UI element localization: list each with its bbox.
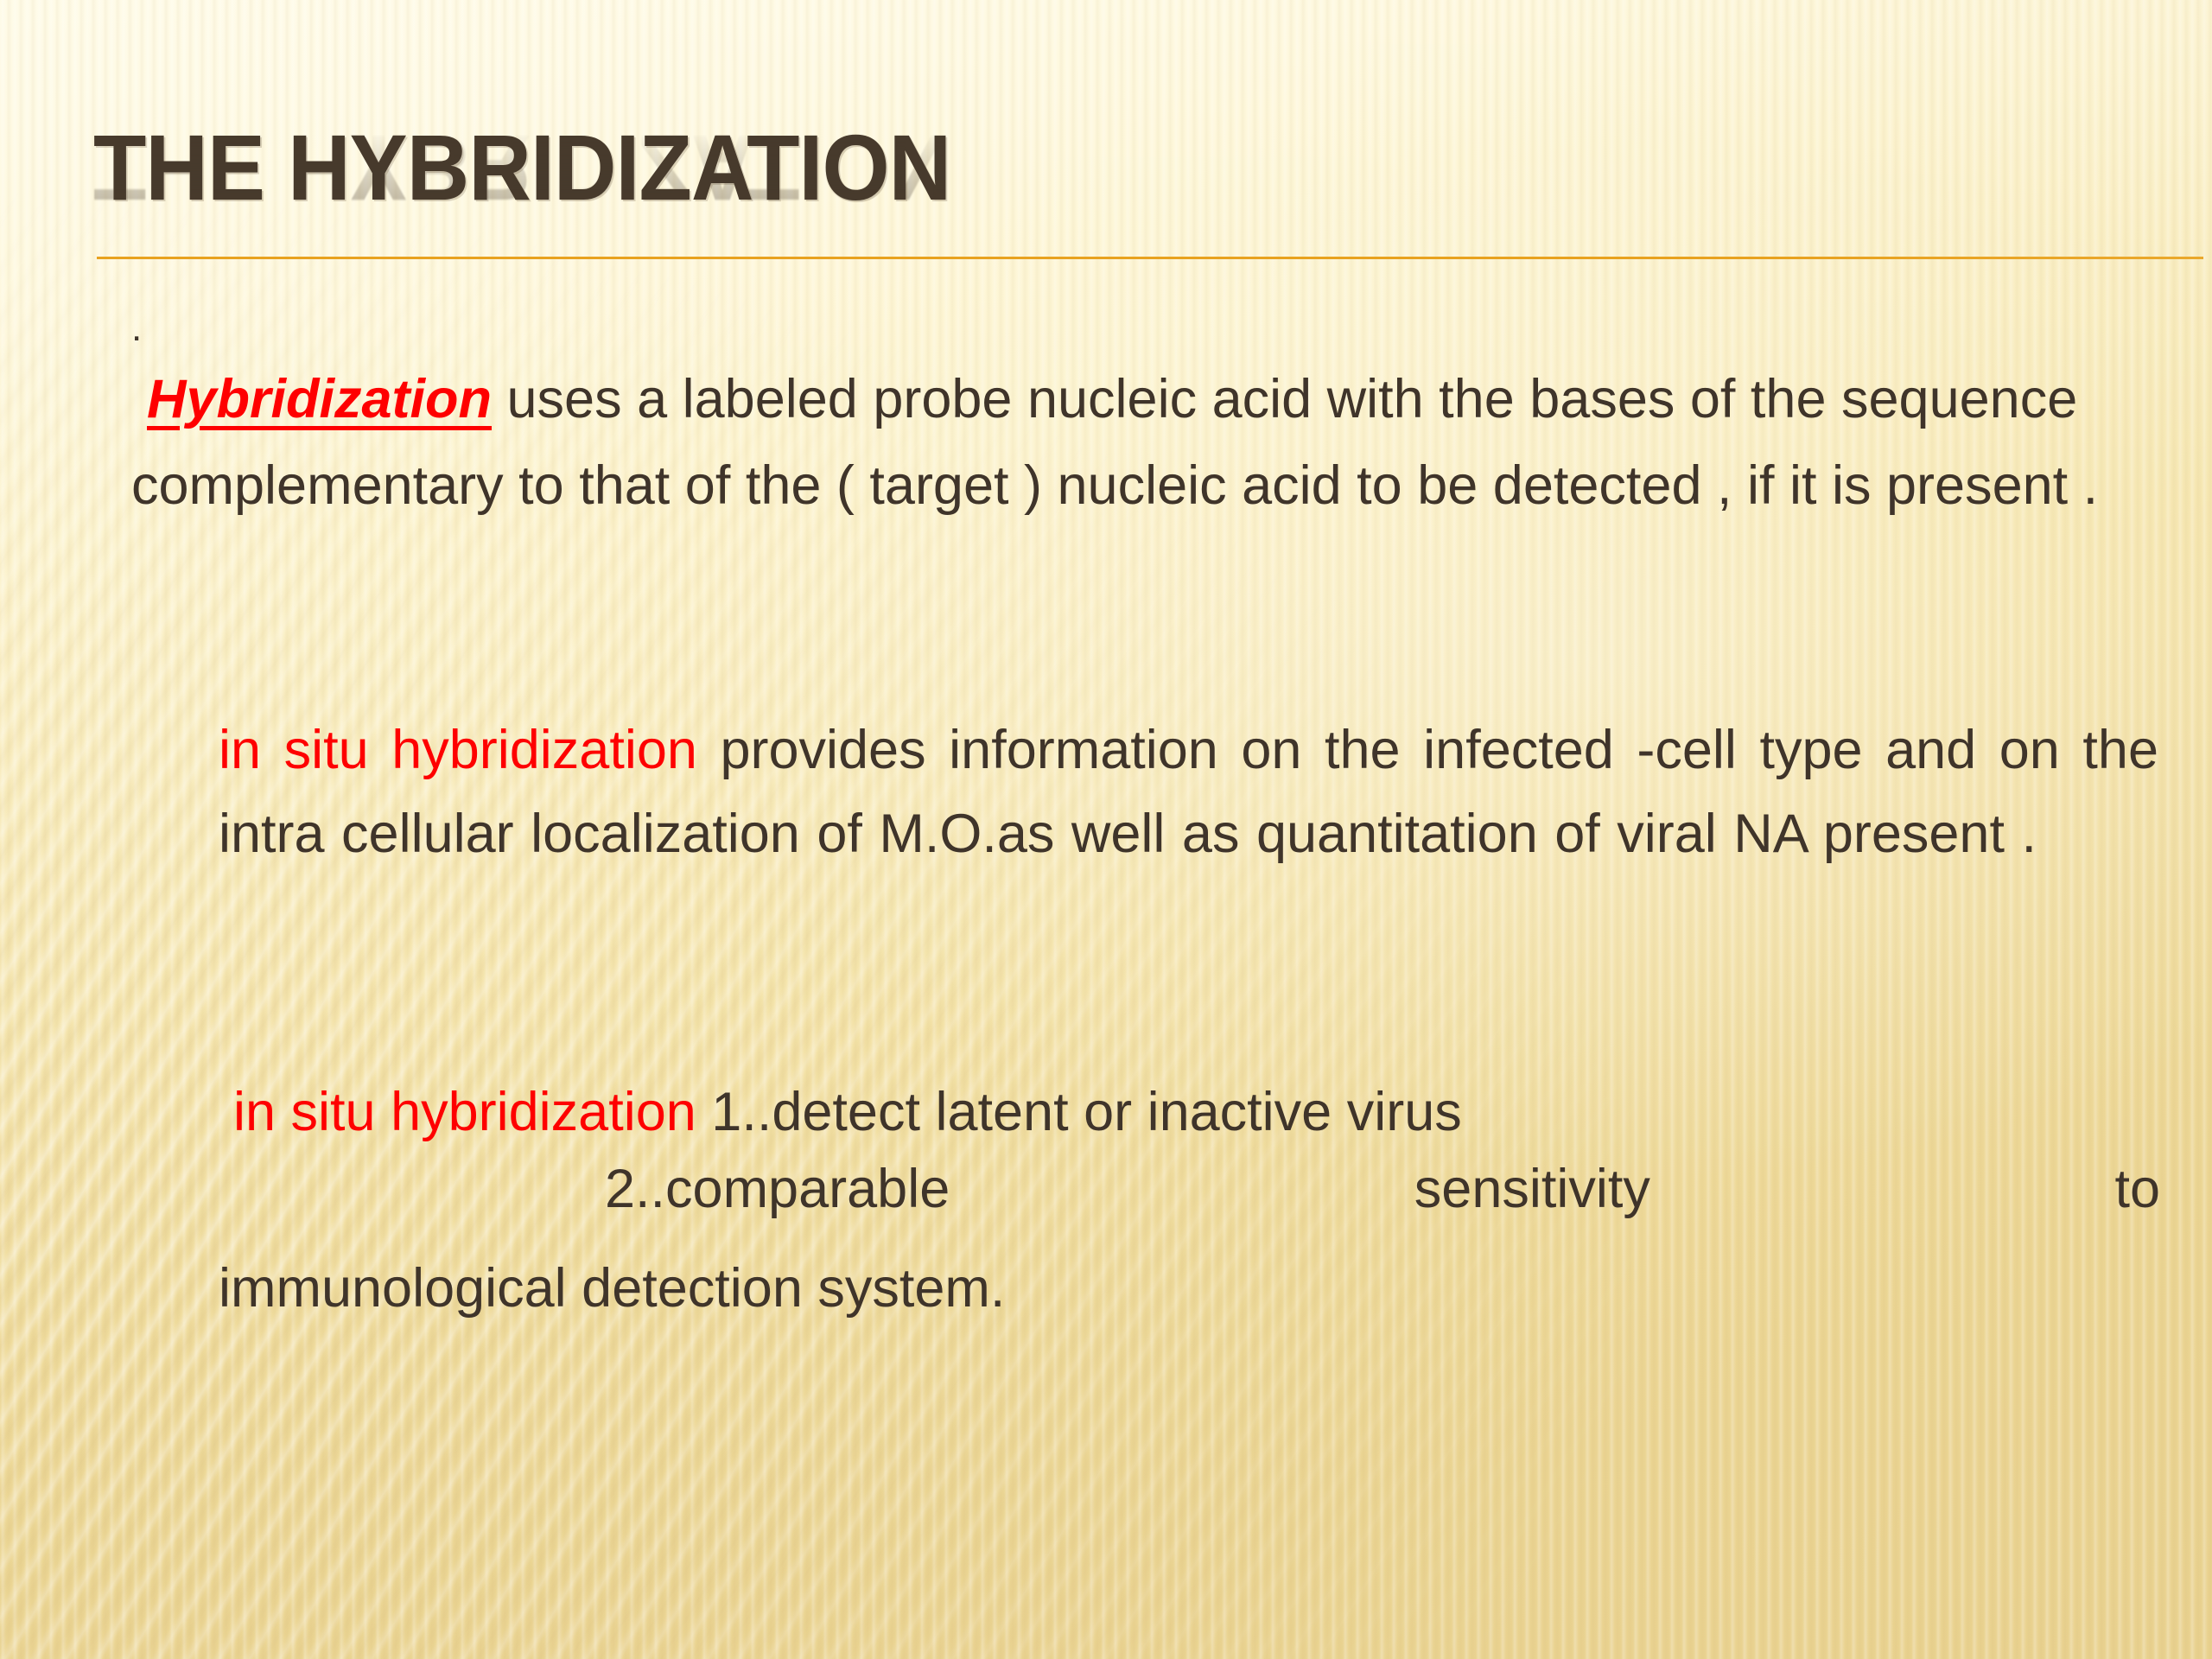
in-situ-hybridization-term-2: in situ hybridization [233, 1082, 696, 1142]
hybridization-term: Hybridization [147, 369, 492, 429]
advantage-item-3: immunological detection system. [219, 1262, 2158, 1316]
advantage-item-1: 1..detect latent or inactive virus [711, 1082, 1461, 1142]
lead-dot-mark: . [131, 320, 142, 337]
title-divider-rule [97, 257, 2203, 259]
paragraph-hybridization-definition: Hybridization uses a labeled probe nucle… [131, 356, 2110, 529]
paragraph-in-situ-information: in situ hybridization provides informati… [219, 709, 2158, 876]
slide-title-block: The Hybridization The Hybridization [93, 121, 2115, 285]
advantage-item-2-middle: sensitivity [1414, 1162, 1650, 1217]
in-situ-hybridization-term: in situ hybridization [219, 720, 697, 780]
page-title: The Hybridization [93, 121, 1974, 214]
advantage-item-2-number: 2..comparable [605, 1162, 950, 1217]
advantage-item-2-end: to [2114, 1162, 2160, 1217]
paragraph-in-situ-advantages: in situ hybridization 1..detect latent o… [233, 1063, 2173, 1162]
presentation-slide: The Hybridization The Hybridization . Hy… [0, 0, 2212, 1659]
advantage-item-2-row: 2..comparablesensitivityto [605, 1162, 2160, 1217]
